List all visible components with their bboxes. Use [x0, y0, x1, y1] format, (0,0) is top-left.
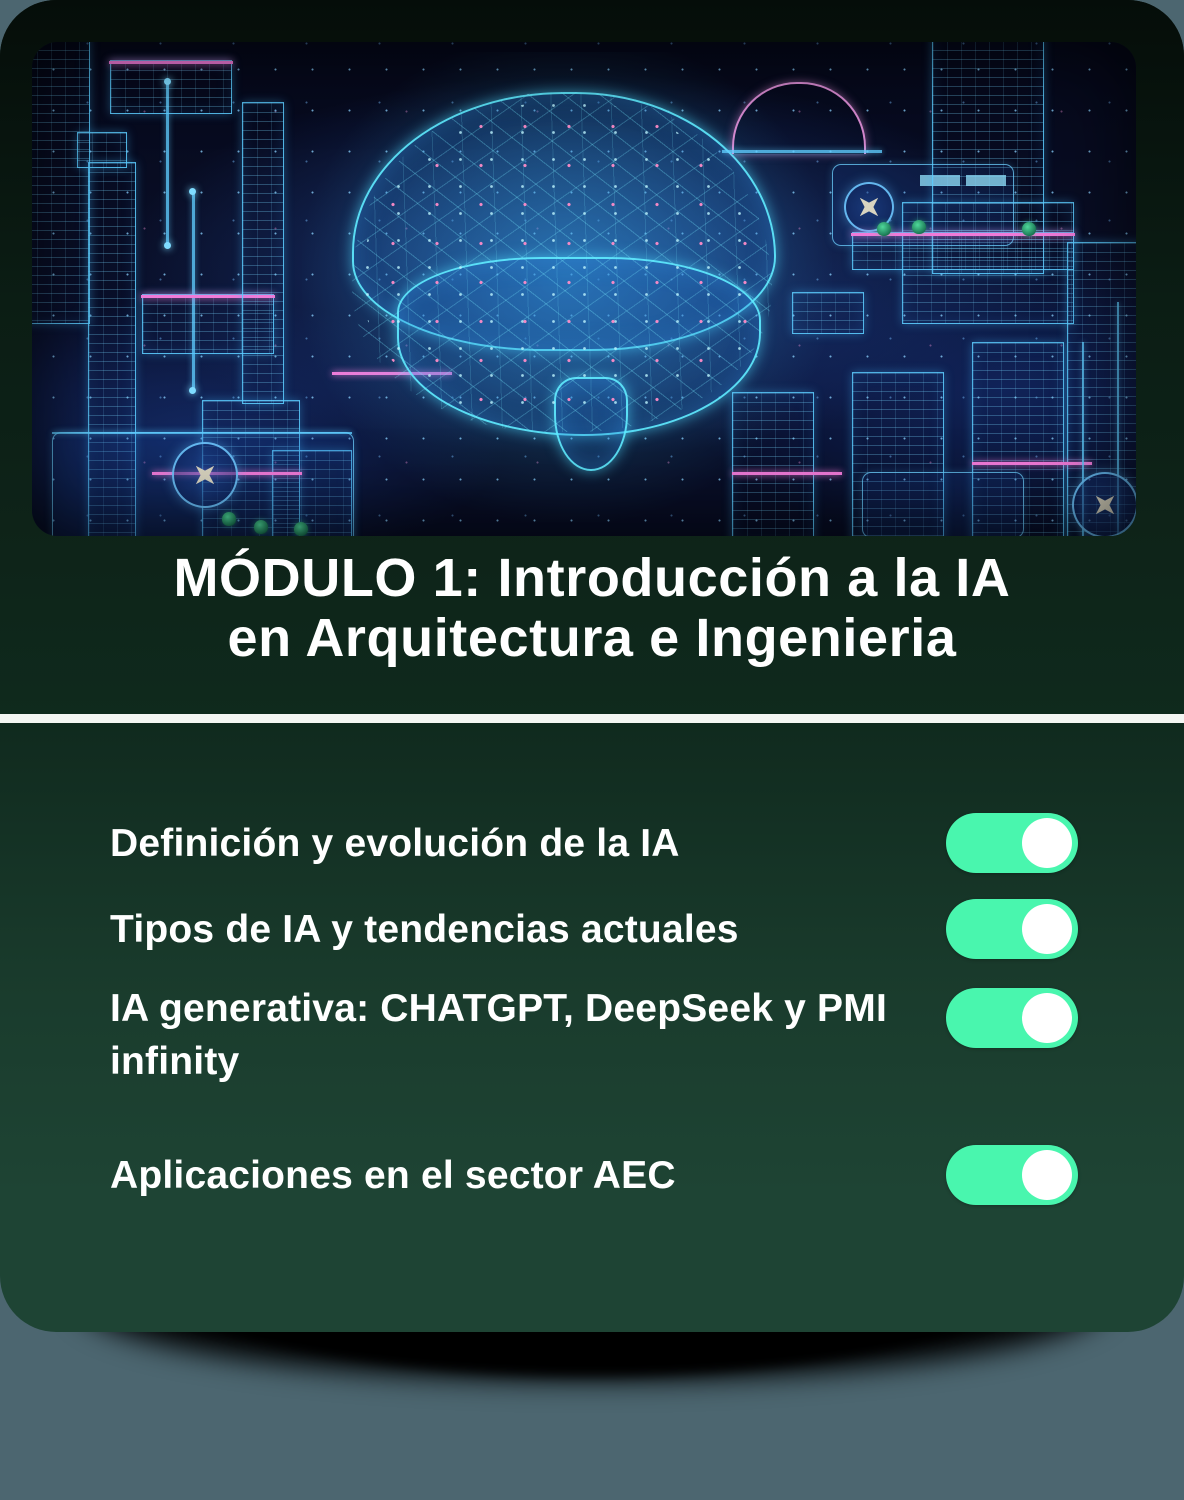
tree-l3 [294, 522, 308, 536]
toggle-switch-3[interactable] [946, 988, 1078, 1048]
list-item[interactable]: Aplicaciones en el sector AEC [110, 1140, 1078, 1210]
title-line-2: en Arquitectura e Ingenieria [0, 608, 1184, 668]
module-card: MÓDULO 1: Introducción a la IA en Arquit… [0, 0, 1184, 1332]
bridge-deck [722, 150, 882, 153]
compass-icon [172, 442, 238, 508]
hud-waveform-panel [862, 472, 1024, 536]
toggle-knob [1022, 993, 1072, 1043]
toggle-switch-4[interactable] [946, 1145, 1078, 1205]
list-item-label: IA generativa: CHATGPT, DeepSeek y PMI i… [110, 982, 900, 1088]
title-line-1: MÓDULO 1: Introducción a la IA [0, 548, 1184, 608]
building-l1 [32, 42, 90, 324]
tree-r3 [1022, 222, 1036, 236]
section-divider [0, 714, 1184, 723]
compass-icon-right [1072, 472, 1136, 536]
neon-strip-r1 [972, 462, 1092, 465]
antenna-dot-4 [189, 387, 196, 394]
toggle-knob [1022, 904, 1072, 954]
toggle-knob [1022, 818, 1072, 868]
topic-checklist: Definición y evolución de la IA Tipos de… [110, 808, 1078, 1210]
list-item[interactable]: Definición y evolución de la IA [110, 808, 1078, 878]
antenna-line-2 [192, 192, 195, 392]
list-item-label: Aplicaciones en el sector AEC [110, 1149, 676, 1202]
building-r6 [732, 392, 814, 536]
page-stage: MÓDULO 1: Introducción a la IA en Arquit… [0, 0, 1184, 1500]
antenna-dot-2 [164, 242, 171, 249]
floating-block-r1 [792, 292, 864, 334]
neon-strip-r2 [732, 472, 842, 475]
list-item-label: Definición y evolución de la IA [110, 817, 680, 870]
toggle-switch-2[interactable] [946, 899, 1078, 959]
tree-l1 [222, 512, 236, 526]
sky-platform [852, 232, 1074, 270]
tree-r1 [877, 222, 891, 236]
building-l5 [242, 102, 284, 404]
tree-l2 [254, 520, 268, 534]
list-item-label: Tipos de IA y tendencias actuales [110, 903, 739, 956]
floating-block-3 [77, 132, 127, 168]
brain-network-image [32, 42, 1136, 536]
toggle-switch-1[interactable] [946, 813, 1078, 873]
list-item[interactable]: Tipos de IA y tendencias actuales [110, 894, 1078, 964]
tree-r2 [912, 220, 926, 234]
page-title: MÓDULO 1: Introducción a la IA en Arquit… [0, 548, 1184, 668]
list-item[interactable]: IA generativa: CHATGPT, DeepSeek y PMI i… [110, 982, 1078, 1088]
toggle-knob [1022, 1150, 1072, 1200]
antenna-dot-3 [189, 188, 196, 195]
floating-block-1 [110, 60, 232, 114]
